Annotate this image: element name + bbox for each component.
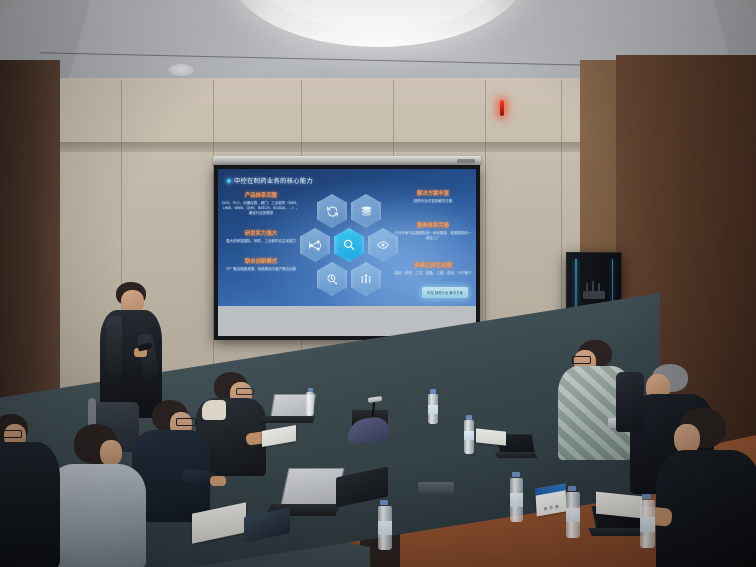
table-cable-grommet (418, 482, 454, 494)
glasses-icon (176, 418, 196, 426)
search-magnifier-icon (334, 228, 364, 262)
water-bottle (510, 478, 523, 522)
office-chair (616, 372, 644, 432)
attendee-face (100, 440, 122, 466)
bottle-cap (568, 486, 576, 491)
slide-block-right-2: 服务体系完善 行业专家与实施团队统一体化服务，助推制药向一致化工厂 (394, 221, 472, 241)
slide-block-left-3: 联合创新模式 "5T" 融合赋能资源，持续推动与客户联合创新 (222, 257, 300, 272)
bottle-cap (308, 388, 313, 392)
block-heading: 解决方案丰富 (394, 189, 472, 197)
slide-title-bullet-icon (227, 179, 231, 183)
slide-block-left-2: 研发实力强大 强大的研发团队、软件、工业软件自主化能力 (222, 229, 300, 244)
block-heading: 多维立体生态圈 (394, 261, 472, 269)
block-body: 行业专家与实施团队统一体化服务，助推制药向一致化工厂 (394, 231, 472, 241)
papers (596, 492, 642, 519)
slide-badge-label: 中控 制药行业 解决方案 (427, 290, 463, 295)
attendee-right-3 (672, 408, 756, 567)
water-bottle (640, 500, 655, 548)
layers-stack-icon (351, 194, 381, 228)
refresh-cycle-icon (317, 194, 347, 228)
red-status-led-icon (500, 100, 504, 116)
slide-content: 中控在制药业务的核心能力 产品体系完整 DCS、PLC、仪器仪表、阀门、工业软件… (218, 169, 476, 306)
block-heading: 产品体系完整 (222, 191, 300, 199)
papers (476, 428, 506, 445)
bottle-cap (430, 389, 436, 394)
projection-screen-housing (213, 156, 481, 165)
laptop-keyboard (588, 528, 648, 536)
block-heading: 联合创新模式 (222, 257, 300, 265)
rack-antenna-icon (586, 283, 588, 292)
block-heading: 研发实力强大 (222, 229, 300, 237)
attendee-jacket (0, 442, 60, 567)
conference-room-photo: 中控在制药业务的核心能力 产品体系完整 DCS、PLC、仪器仪表、阀门、工业软件… (0, 0, 756, 567)
slide-badge: 中控 制药行业 解决方案 (422, 287, 468, 298)
slide-block-right-3: 多维立体生态圈 高校、科研、工艺、装备、工程、咨询、TOP客户 (394, 261, 472, 276)
bottle-label (510, 493, 523, 507)
glasses-icon (2, 430, 22, 438)
bottle-cap (642, 494, 651, 499)
water-bottle (566, 492, 580, 538)
bottle-label (464, 431, 474, 440)
attendee-hand (210, 476, 226, 486)
presenter-arm-left (106, 316, 122, 376)
block-body: 高校、科研、工艺、装备、工程、咨询、TOP客户 (394, 271, 472, 276)
attendee-jacket (656, 450, 756, 567)
water-bottle (464, 420, 474, 454)
projection-screen-surface: 中控在制药业务的核心能力 产品体系完整 DCS、PLC、仪器仪表、阀门、工业软件… (218, 169, 476, 336)
block-body: 制药行业丰富的解决方案 (394, 199, 472, 204)
bottle-label (428, 405, 438, 414)
name-placard: 张 志 强 (535, 483, 566, 516)
slide-block-right-1: 解决方案丰富 制药行业丰富的解决方案 (394, 189, 472, 204)
laptop-keyboard (495, 452, 537, 458)
bottle-cap (466, 415, 472, 420)
water-bottle (428, 394, 438, 424)
bottle-label (640, 517, 655, 532)
hexagon-honeycomb (301, 193, 397, 297)
glasses-icon (236, 388, 254, 395)
bottle-cap (512, 472, 520, 477)
bottle-label (566, 508, 580, 522)
water-bottle (306, 392, 314, 416)
glasses-icon (572, 356, 591, 364)
bottle-label (378, 521, 392, 535)
rack-router-icon (583, 291, 605, 299)
slide-title: 中控在制药业务的核心能力 (234, 176, 313, 185)
bottle-cap (380, 500, 388, 505)
block-body: DCS、PLC、仪器仪表、阀门、工业软件（MES、LIMS、WMS、QMS、BA… (222, 201, 300, 216)
people-group-icon (351, 262, 381, 296)
downlight-icon (168, 64, 194, 76)
housing-badge (457, 159, 475, 163)
eye-view-icon (368, 228, 398, 262)
block-body: 强大的研发团队、软件、工业软件自主化能力 (222, 239, 300, 244)
rack-antenna-icon (598, 283, 600, 292)
attendee-left-4 (0, 408, 80, 567)
slide-block-left-1: 产品体系完整 DCS、PLC、仪器仪表、阀门、工业软件（MES、LIMS、WMS… (222, 191, 300, 216)
clock-gear-icon (317, 262, 347, 296)
laptop-keyboard (261, 416, 316, 423)
block-heading: 服务体系完善 (394, 221, 472, 229)
rack-antenna-icon (592, 281, 594, 292)
water-bottle (378, 506, 392, 550)
placard-name: 张 志 强 (536, 503, 566, 513)
block-body: "5T" 融合赋能资源，持续推动与客户联合创新 (222, 267, 300, 272)
network-nodes-icon (300, 228, 330, 262)
